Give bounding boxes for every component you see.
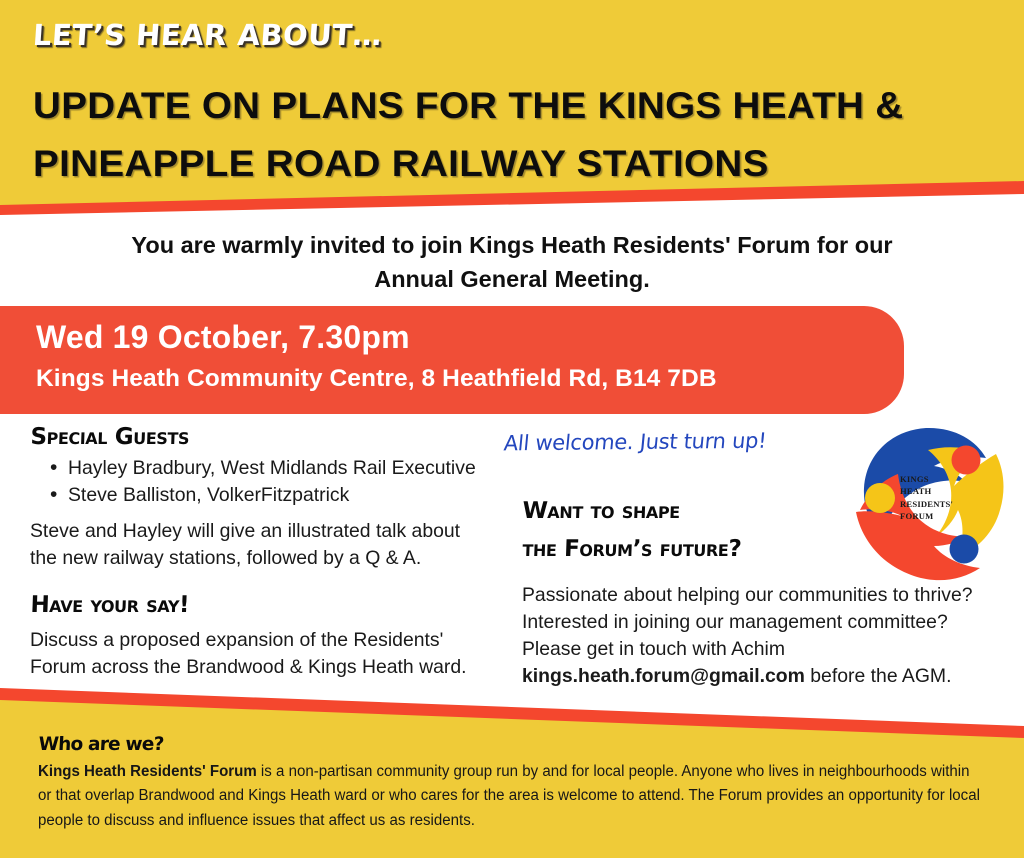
shape-future-line-2: Interested in joining our management com… <box>522 609 1007 636</box>
event-details-banner: Wed 19 October, 7.30pm Kings Heath Commu… <box>0 306 904 414</box>
event-venue: Kings Heath Community Centre, 8 Heathfie… <box>36 360 904 398</box>
invitation-text: You are warmly invited to join Kings Hea… <box>42 228 982 296</box>
have-your-say-line-2: Forum across the Brandwood & Kings Heath… <box>30 654 510 681</box>
contact-email-suffix: before the AGM. <box>805 665 952 687</box>
logo-wordmark-line-2: HEATH <box>900 485 970 497</box>
kicker-text: LET’S HEAR ABOUT… <box>32 18 383 52</box>
have-your-say-body: Discuss a proposed expansion of the Resi… <box>30 627 510 681</box>
who-are-we-heading: Who are we? <box>38 734 999 755</box>
page-title-line-2: PINEAPPLE ROAD RAILWAY STATIONS <box>33 134 1022 192</box>
right-column: Want to shape the Forum’s future? Passio… <box>522 424 852 690</box>
list-item: Hayley Bradbury, West Midlands Rail Exec… <box>30 455 510 482</box>
event-date: Wed 19 October, 7.30pm <box>36 314 904 360</box>
special-guests-heading: Special Guests <box>30 424 511 450</box>
guests-note-line-1: Steve and Hayley will give an illustrate… <box>30 518 510 545</box>
list-item: Steve Balliston, VolkerFitzpatrick <box>30 482 510 509</box>
logo-wordmark: KINGS HEATH RESIDENTS' FORUM <box>900 473 970 523</box>
kings-heath-residents-forum-logo: KINGS HEATH RESIDENTS' FORUM <box>836 416 1012 592</box>
shape-future-line-3: Please get in touch with Achim <box>522 636 1007 663</box>
logo-dot-blue <box>950 535 979 564</box>
contact-email[interactable]: kings.heath.forum@gmail.com <box>522 665 805 687</box>
logo-dot-yellow <box>865 483 895 513</box>
left-column: Special Guests Hayley Bradbury, West Mid… <box>30 424 510 681</box>
contact-line: kings.heath.forum@gmail.com before the A… <box>522 663 1007 690</box>
invitation-line-1: You are warmly invited to join Kings Hea… <box>42 228 982 262</box>
all-welcome-note: All welcome. Just turn up! <box>503 429 768 456</box>
shape-future-body: Passionate about helping our communities… <box>522 582 1007 690</box>
guests-note-line-2: the new railway stations, followed by a … <box>30 545 510 572</box>
org-name: Kings Heath Residents' Forum <box>38 763 257 780</box>
logo-wordmark-line-3: RESIDENTS' <box>900 498 970 510</box>
have-your-say-line-1: Discuss a proposed expansion of the Resi… <box>30 627 510 654</box>
have-your-say-heading: Have your say! <box>30 592 511 618</box>
invitation-line-2: Annual General Meeting. <box>42 262 982 296</box>
poster-canvas: LET’S HEAR ABOUT… UPDATE ON PLANS FOR TH… <box>0 0 1024 858</box>
page-title: UPDATE ON PLANS FOR THE KINGS HEATH & PI… <box>33 76 1022 192</box>
shape-future-heading-line-1: Want to shape <box>522 498 853 524</box>
who-are-we-section: Who are we? Kings Heath Residents' Forum… <box>38 734 998 834</box>
logo-wordmark-line-4: FORUM <box>900 510 970 522</box>
logo-wordmark-line-1: KINGS <box>900 473 970 485</box>
special-guests-list: Hayley Bradbury, West Midlands Rail Exec… <box>30 455 510 509</box>
logo-dot-red <box>952 446 981 475</box>
page-title-line-1: UPDATE ON PLANS FOR THE KINGS HEATH & <box>33 76 1022 134</box>
who-are-we-body: Kings Heath Residents' Forum is a non-pa… <box>38 760 984 834</box>
guests-note: Steve and Hayley will give an illustrate… <box>30 518 510 572</box>
shape-future-heading-line-2: the Forum’s future? <box>522 536 853 562</box>
